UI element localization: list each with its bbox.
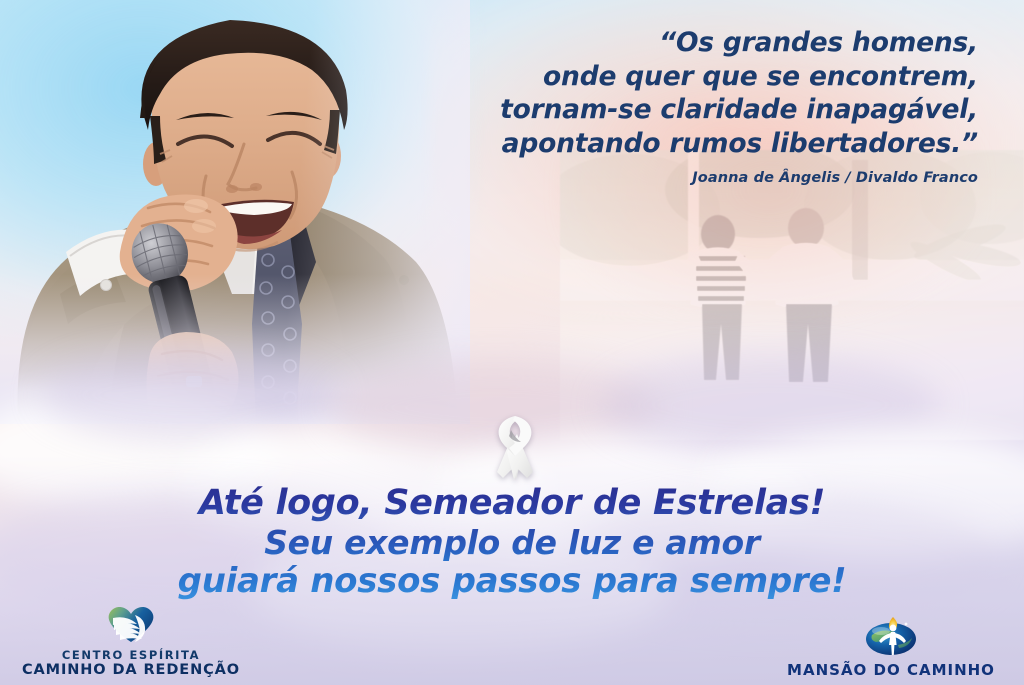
quote-line-4: apontando rumos libertadores.” [418,127,978,161]
headline-line-1: Até logo, Semeador de Estrelas! [0,484,1024,523]
background-photo-two-men-walking [560,150,1024,440]
quote-text: “Os grandes homens, onde quer que se enc… [418,26,978,160]
globe-figure-icon [766,615,1016,661]
headline: Até logo, Semeador de Estrelas! Seu exem… [0,484,1024,601]
logo-left-line-1: CENTRO ESPÍRITA [6,648,256,662]
logo-right-line-1: MANSÃO DO CAMINHO [766,661,1016,679]
headline-line-2: Seu exemplo de luz e amor [0,523,1024,562]
logo-centro-espirita: CENTRO ESPÍRITA CAMINHO DA REDENÇÃO [6,604,256,679]
quote-line-2: onde quer que se encontrem, [418,60,978,94]
memorial-poster: “Os grandes homens, onde quer que se enc… [0,0,1024,685]
portrait-divaldo-franco [0,0,470,424]
quote-attribution: Joanna de Ângelis / Divaldo Franco [418,170,978,186]
quote-line-3: tornam-se claridade inapagável, [418,93,978,127]
quote-line-1: “Os grandes homens, [418,26,978,60]
white-ribbon-icon [483,408,547,484]
logo-mansao-do-caminho: MANSÃO DO CAMINHO [766,615,1016,679]
logo-left-line-2: CAMINHO DA REDENÇÃO [6,662,256,679]
headline-line-3: guiará nossos passos para sempre! [0,562,1024,601]
heart-hands-icon [6,604,256,648]
